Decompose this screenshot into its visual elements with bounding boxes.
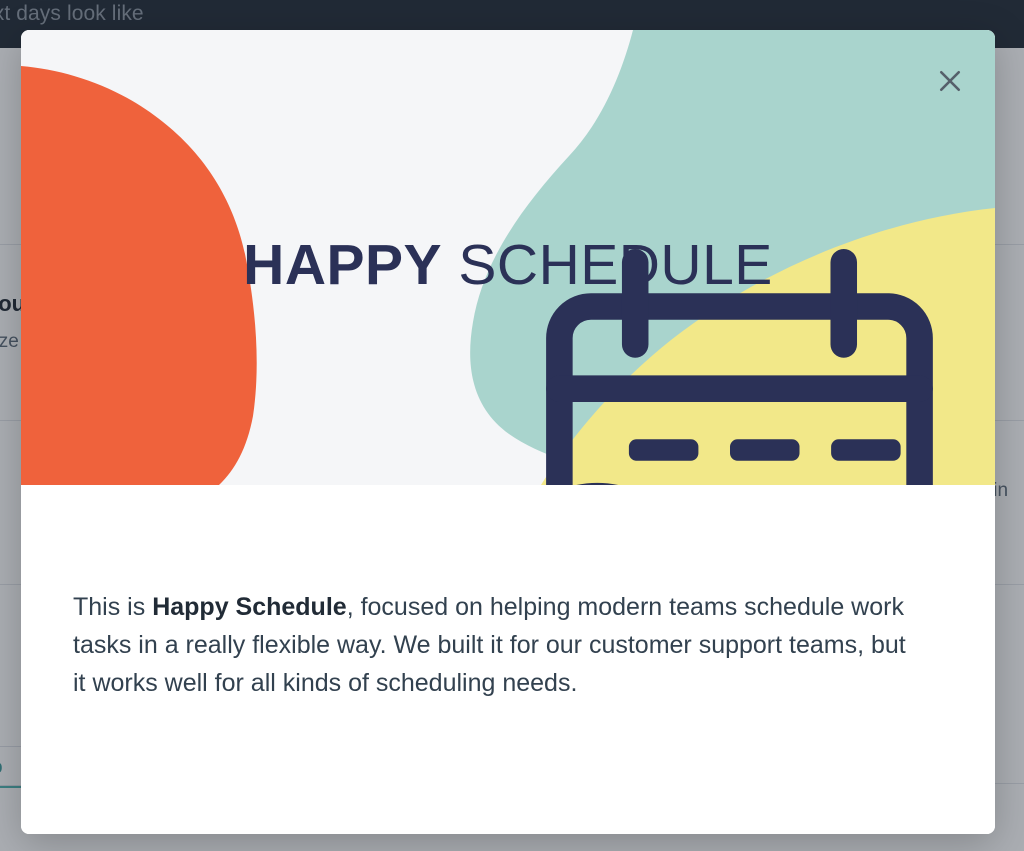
modal-footer — [21, 694, 995, 834]
close-icon — [935, 66, 965, 96]
close-button[interactable] — [927, 58, 973, 104]
modal-description: This is Happy Schedule, focused on helpi… — [73, 588, 918, 702]
screen: ext days look like your team nize us ou … — [0, 0, 1024, 851]
orange-blob-shape — [21, 66, 257, 485]
modal-body: This is Happy Schedule, focused on helpi… — [21, 485, 995, 834]
desc-text-before: This is — [73, 593, 152, 621]
desc-text-bold: Happy Schedule — [152, 593, 347, 621]
modal-hero: HAPPY SCHEDULE — [21, 30, 995, 485]
hero-blobs — [21, 30, 995, 485]
onboarding-modal: HAPPY SCHEDULE This is Happy Schedule, f… — [21, 30, 995, 834]
